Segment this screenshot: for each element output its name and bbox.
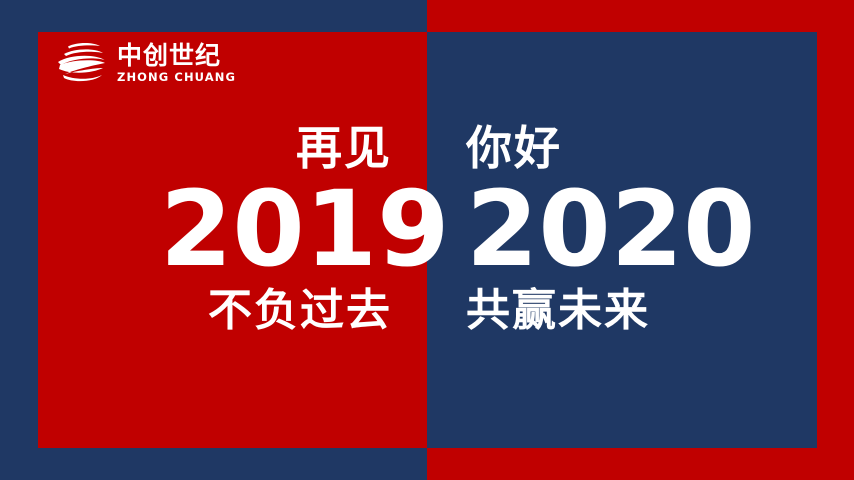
zhongchuang-z-mark-icon: [55, 40, 107, 86]
new-year-slide: 中创世纪 ZHONG CHUANG 再见 2019 不负过去 你好 2020 共…: [0, 0, 854, 480]
year-2019: 2019: [160, 177, 392, 281]
logo-company-name-en: ZHONG CHUANG: [117, 72, 236, 84]
welcome-greeting: 你好: [466, 125, 766, 171]
tagline-past: 不负过去: [160, 289, 392, 333]
year-2020: 2020: [466, 177, 766, 281]
message-block-2020: 你好 2020 共赢未来: [466, 125, 766, 333]
logo-company-name-cn: 中创世纪: [117, 43, 236, 68]
farewell-greeting: 再见: [160, 125, 392, 171]
logo-wordmark: 中创世纪 ZHONG CHUANG: [117, 43, 236, 84]
message-block-2019: 再见 2019 不负过去: [160, 125, 392, 333]
company-logo: 中创世纪 ZHONG CHUANG: [55, 40, 236, 86]
tagline-future: 共赢未来: [466, 289, 766, 333]
